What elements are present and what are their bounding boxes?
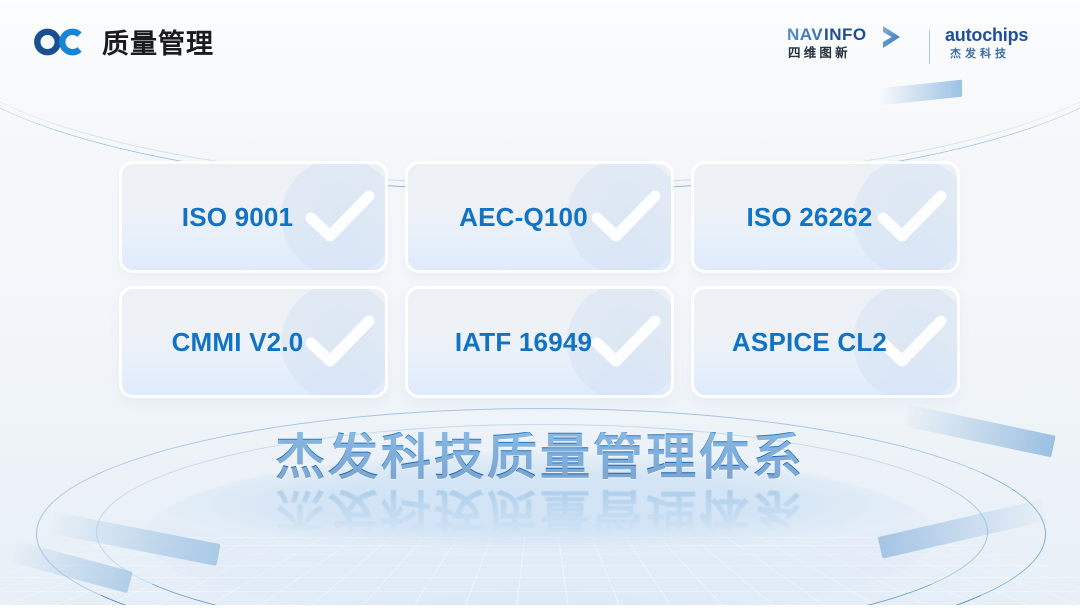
certification-card[interactable]: ASPICE CL2 — [694, 289, 957, 395]
certification-label: AEC-Q100 — [459, 202, 588, 233]
svg-text:杰发科技: 杰发科技 — [950, 46, 1010, 60]
page-title: 质量管理 — [102, 31, 214, 58]
certification-label: ISO 9001 — [182, 202, 293, 233]
slide-header: 质量管理 NAV INFO — [0, 0, 1080, 98]
certification-label: CMMI V2.0 — [172, 327, 304, 358]
svg-text:INFO: INFO — [824, 25, 867, 44]
certification-card[interactable]: ISO 26262 — [694, 164, 957, 270]
hero-block: 杰发科技质量管理体系 杰发科技质量管理体系 — [0, 432, 1080, 537]
certification-label: ISO 26262 — [746, 202, 872, 233]
certification-label: ASPICE CL2 — [732, 327, 887, 358]
brand-block: 质量管理 — [34, 28, 214, 61]
partner-logo-group: NAV INFO 四维图新 autochips 杰发科技 — [787, 24, 1050, 69]
navinfo-logo: NAV INFO 四维图新 — [787, 24, 915, 69]
hero-title-reflection: 杰发科技质量管理体系 — [0, 486, 1080, 537]
certification-card[interactable]: CMMI V2.0 — [122, 289, 385, 395]
svg-text:四维图新: 四维图新 — [788, 45, 851, 60]
certification-card[interactable]: AEC-Q100 — [408, 164, 671, 270]
autochips-logo: autochips 杰发科技 — [944, 24, 1050, 69]
frame-edge-top — [0, 0, 1080, 3]
logo-divider — [929, 30, 930, 64]
hero-title: 杰发科技质量管理体系 — [0, 432, 1080, 483]
slide-root: 质量管理 NAV INFO — [0, 0, 1080, 608]
svg-text:autochips: autochips — [945, 25, 1028, 45]
oc-logo-icon — [34, 28, 84, 61]
certification-label: IATF 16949 — [455, 327, 592, 358]
check-icon — [281, 164, 385, 270]
certification-card-grid: ISO 9001 AEC-Q100 ISO 26262 — [122, 164, 958, 395]
certification-card[interactable]: ISO 9001 — [122, 164, 385, 270]
svg-text:NAV: NAV — [787, 25, 823, 44]
certification-card[interactable]: IATF 16949 — [408, 289, 671, 395]
